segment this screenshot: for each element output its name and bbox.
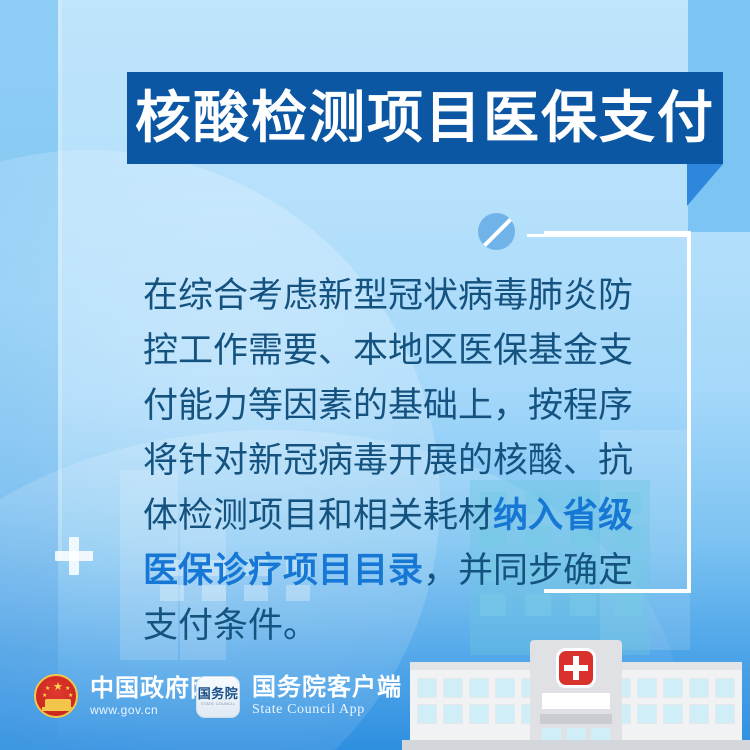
- emblem-star-small: ★: [65, 686, 70, 692]
- medical-cross-icon: [55, 537, 93, 575]
- state-council-app-name: 国务院客户端: [252, 674, 402, 701]
- china-national-emblem-icon: ★ ★ ★ ★ ★: [34, 674, 78, 718]
- state-council-badge-en: STATE COUNCIL: [201, 701, 235, 707]
- state-council-badge-cn: 国务院: [198, 687, 239, 701]
- footer: ★ ★ ★ ★ ★ 中国政府网 www.gov.cn 国务院 STATE COU…: [0, 668, 750, 740]
- poster-infographic: 核酸检测项目医保支付 在综合考虑新型冠状病毒肺炎防控工作需要、本地区医保基金支付…: [0, 0, 750, 750]
- emblem-star-large: ★: [53, 682, 63, 693]
- title-banner-fold: [687, 164, 723, 206]
- state-council-text-block: 国务院客户端 State Council App: [252, 674, 402, 719]
- decorative-rule: [527, 234, 689, 237]
- page-title: 核酸检测项目医保支付: [135, 90, 715, 146]
- pill-icon: [478, 213, 515, 250]
- gov-cn-logo[interactable]: ★ ★ ★ ★ ★ 中国政府网 www.gov.cn: [34, 674, 215, 718]
- state-council-app-name-en: State Council App: [252, 701, 402, 719]
- emblem-base: [42, 707, 74, 711]
- body-paragraph: 在综合考虑新型冠状病毒肺炎防控工作需要、本地区医保基金支付能力等因素的基础上，按…: [143, 268, 663, 653]
- background-vertical-stripe: [58, 0, 62, 560]
- pill-slash: [480, 213, 515, 250]
- state-council-app-badge-icon: 国务院 STATE COUNCIL: [196, 676, 240, 718]
- title-banner: 核酸检测项目医保支付: [127, 72, 723, 164]
- state-council-app-logo[interactable]: 国务院 STATE COUNCIL 国务院客户端 State Council A…: [196, 674, 402, 719]
- hospital-base: [402, 740, 750, 750]
- emblem-star-small: ★: [45, 686, 50, 692]
